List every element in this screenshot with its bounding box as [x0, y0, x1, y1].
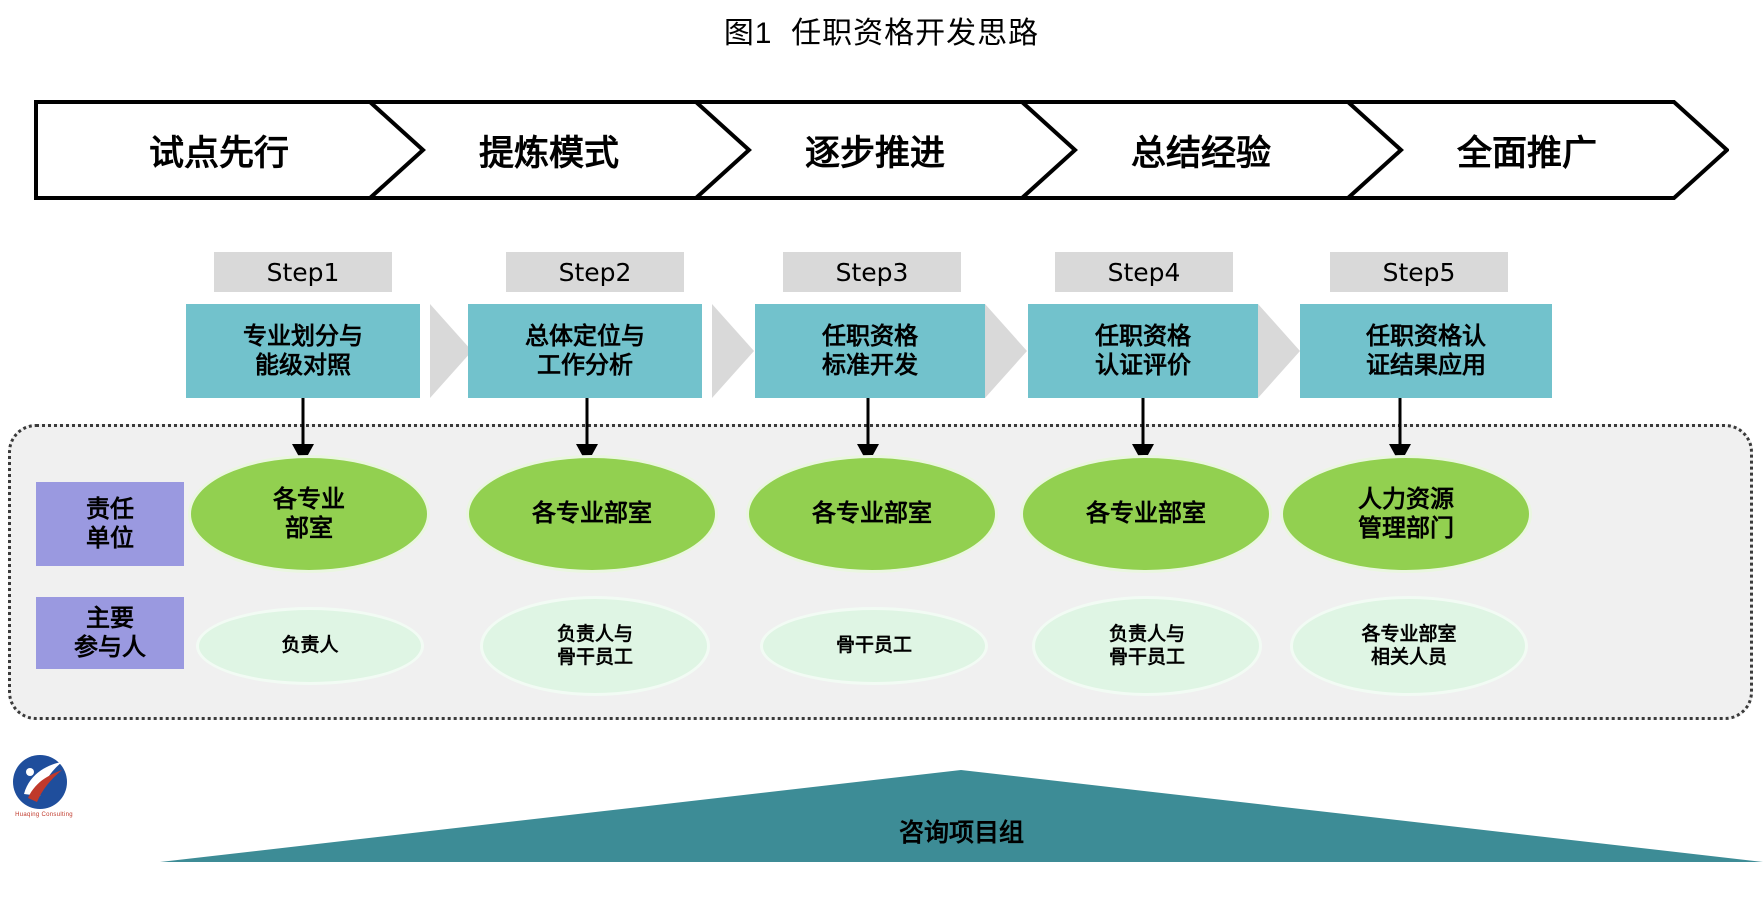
- step-chip-5[interactable]: Step5: [1330, 252, 1508, 292]
- step-box-3[interactable]: 任职资格 标准开发: [755, 304, 985, 398]
- responsible-unit-4-line1: 各专业部室: [1086, 499, 1206, 528]
- step-connector-arrow-3: [985, 304, 1027, 398]
- row-label-participants: 主要 参与人: [36, 597, 184, 669]
- row-label-participants-line1: 主要: [86, 604, 134, 633]
- responsible-unit-2-line1: 各专业部室: [532, 499, 652, 528]
- participant-2[interactable]: 负责人与 骨干员工: [480, 596, 710, 696]
- responsible-unit-5-line1: 人力资源: [1358, 485, 1454, 514]
- page-title: 图1 任职资格开发思路: [0, 8, 1763, 52]
- step-box-4-line1: 任职资格: [1095, 322, 1191, 351]
- stage-label-4: 总结经验: [1046, 100, 1356, 200]
- stage-label-5: 全面推广: [1372, 100, 1682, 200]
- participant-1[interactable]: 负责人: [196, 607, 424, 685]
- participant-2-line2: 骨干员工: [557, 646, 633, 669]
- step-chip-3[interactable]: Step3: [783, 252, 961, 292]
- step-box-5[interactable]: 任职资格认 证结果应用: [1300, 304, 1552, 398]
- responsible-unit-3-line1: 各专业部室: [812, 499, 932, 528]
- row-label-responsible-line2: 单位: [86, 524, 134, 553]
- step-connector-arrow-1: [430, 304, 472, 398]
- step-chip-1[interactable]: Step1: [214, 252, 392, 292]
- step-box-4[interactable]: 任职资格 认证评价: [1028, 304, 1258, 398]
- stage-label-2: 提炼模式: [394, 100, 704, 200]
- step-chip-4[interactable]: Step4: [1055, 252, 1233, 292]
- participant-1-line1: 负责人: [281, 634, 338, 657]
- row-label-responsible-line1: 责任: [86, 495, 134, 524]
- responsible-unit-1[interactable]: 各专业 部室: [188, 455, 430, 573]
- step-box-1[interactable]: 专业划分与 能级对照: [186, 304, 420, 398]
- participant-4-line1: 负责人与: [1109, 623, 1185, 646]
- step-box-3-line2: 标准开发: [822, 351, 918, 380]
- step-connector-arrow-4: [1258, 304, 1300, 398]
- participant-3-line1: 骨干员工: [836, 634, 912, 657]
- responsible-unit-5[interactable]: 人力资源 管理部门: [1280, 455, 1532, 573]
- participant-5-line2: 相关人员: [1371, 646, 1447, 669]
- step-chip-2[interactable]: Step2: [506, 252, 684, 292]
- step-box-2[interactable]: 总体定位与 工作分析: [468, 304, 702, 398]
- row-label-participants-line2: 参与人: [74, 633, 146, 662]
- step-box-1-line2: 能级对照: [255, 351, 351, 380]
- responsible-unit-1-line1: 各专业: [273, 485, 345, 514]
- stage-label-1: 试点先行: [64, 100, 374, 200]
- responsible-unit-2[interactable]: 各专业部室: [466, 455, 718, 573]
- step-box-2-line1: 总体定位与: [525, 322, 645, 351]
- step-box-1-line1: 专业划分与: [243, 322, 363, 351]
- step-box-4-line2: 认证评价: [1095, 351, 1191, 380]
- step-box-5-line2: 证结果应用: [1366, 351, 1486, 380]
- step-connector-arrow-2: [712, 304, 754, 398]
- responsible-unit-3[interactable]: 各专业部室: [746, 455, 998, 573]
- participant-4[interactable]: 负责人与 骨干员工: [1032, 596, 1262, 696]
- responsible-unit-5-line2: 管理部门: [1358, 514, 1454, 543]
- row-label-responsible-unit: 责任 单位: [36, 482, 184, 566]
- footer-banner-label: 咨询项目组: [160, 770, 1763, 862]
- participant-5[interactable]: 各专业部室 相关人员: [1290, 596, 1528, 696]
- responsible-unit-4[interactable]: 各专业部室: [1020, 455, 1272, 573]
- responsible-unit-1-line2: 部室: [285, 514, 333, 543]
- participant-4-line2: 骨干员工: [1109, 646, 1185, 669]
- participant-2-line1: 负责人与: [557, 623, 633, 646]
- step-box-3-line1: 任职资格: [822, 322, 918, 351]
- step-box-5-line1: 任职资格认: [1366, 322, 1486, 351]
- participant-3[interactable]: 骨干员工: [760, 607, 988, 685]
- company-logo-wordmark: Huaqing Consulting: [4, 812, 84, 818]
- participant-5-line1: 各专业部室: [1361, 623, 1456, 646]
- stage-banner: 试点先行 提炼模式 逐步推进 总结经验 全面推广: [34, 100, 1729, 200]
- stage-label-3: 逐步推进: [720, 100, 1030, 200]
- step-box-2-line2: 工作分析: [537, 351, 633, 380]
